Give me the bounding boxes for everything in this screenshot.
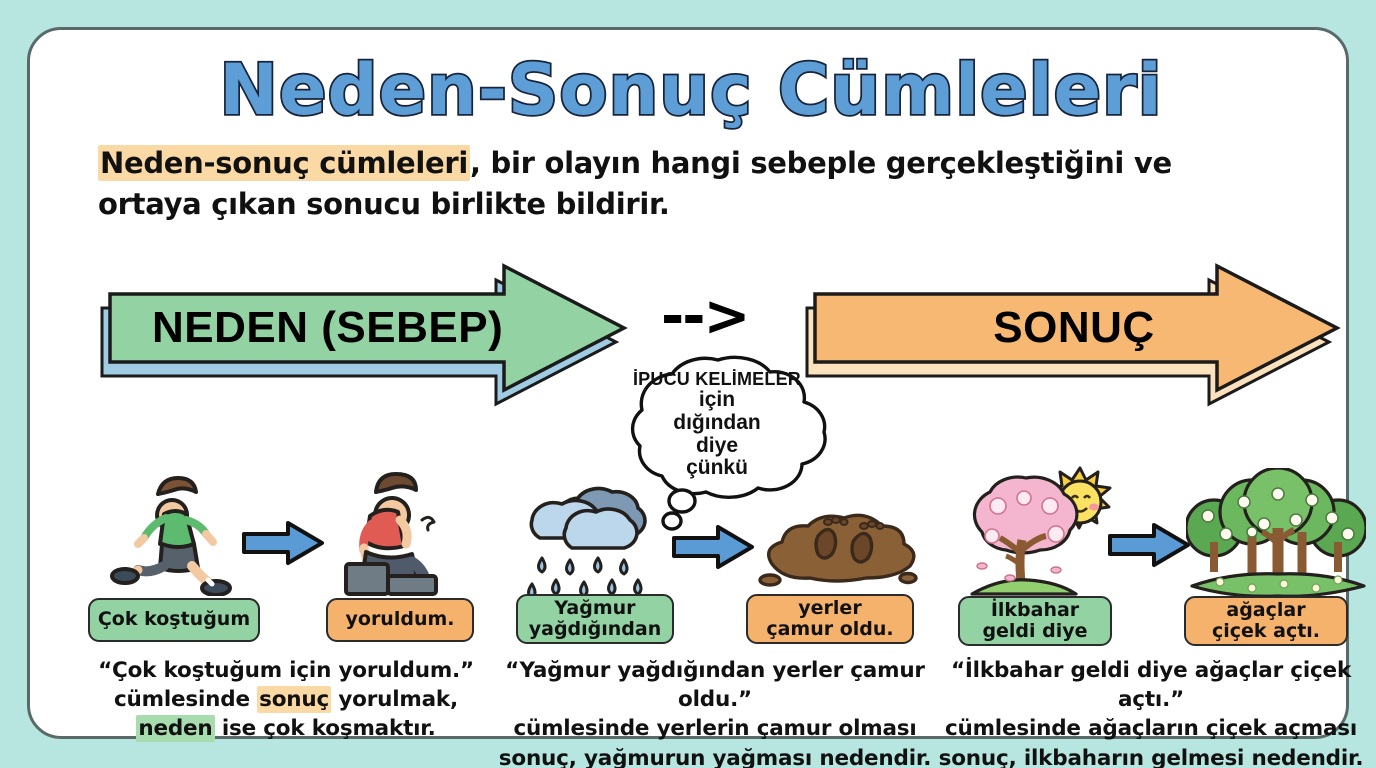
- example-3-effect-label: ağaçlar çiçek açtı.: [1212, 600, 1320, 643]
- example-1-scene: [76, 460, 496, 620]
- intro-line2: ortaya çıkan sonucu birlikte bildirir.: [98, 187, 670, 221]
- example-3-line2: cümlesinde ağaçların çiçek açması: [945, 716, 1357, 741]
- infographic-page: Neden-Sonuç Cümleleri Neden-sonuç cümlel…: [0, 0, 1376, 768]
- tired-boy-icon: [326, 468, 466, 598]
- example-group-1: Çok koştuğum yoruldum. “Çok koştuğum içi…: [76, 460, 496, 768]
- rain-cloud-icon: [512, 476, 662, 606]
- example-3-quote: “İlkbahar geldi diye ağaçlar çiçek açtı.…: [951, 658, 1351, 712]
- example-1-line2-pre: cümlesinde: [114, 687, 257, 712]
- example-1-explanation: “Çok koştuğum için yoruldum.” cümlesinde…: [76, 656, 496, 744]
- example-2-explanation: “Yağmur yağdığından yerler çamur oldu.” …: [498, 656, 932, 768]
- example-2-line3: sonuç, yağmurun yağması nedendir.: [499, 746, 931, 768]
- blue-arrow-icon: [240, 520, 326, 566]
- example-2-quote: “Yağmur yağdığından yerler çamur oldu.”: [505, 658, 925, 712]
- running-boy-icon: [98, 466, 248, 596]
- example-3-cause-label: İlkbahar geldi diye: [982, 600, 1087, 643]
- example-group-3: İlkbahar geldi diye ağaçlar çiçek açtı. …: [934, 460, 1368, 768]
- blue-arrow-icon: [1106, 522, 1192, 568]
- example-2-cause-pill: Yağmur yağdığından: [516, 594, 674, 644]
- example-1-sonuc-highlight: sonuç: [257, 686, 331, 713]
- example-3-line3: sonuç, ilkbaharın gelmesi nedendir.: [939, 746, 1364, 768]
- example-3-effect-pill: ağaçlar çiçek açtı.: [1184, 596, 1348, 646]
- intro-paragraph: Neden-sonuç cümleleri, bir olayın hangi …: [98, 143, 1288, 225]
- example-2-effect-label: yerler çamur oldu.: [766, 598, 893, 641]
- example-1-cause-pill: Çok koştuğum: [88, 598, 260, 642]
- blue-arrow-icon: [670, 524, 756, 570]
- dashed-arrow-connector: -->: [661, 284, 748, 349]
- example-3-cause-pill: İlkbahar geldi diye: [958, 596, 1112, 646]
- intro-highlight: Neden-sonuç cümleleri: [98, 145, 470, 181]
- example-1-quote: “Çok koştuğum için yoruldum.”: [98, 658, 474, 683]
- example-1-line2-post: yorulmak,: [331, 687, 458, 712]
- blossom-tree-sun-icon: [952, 462, 1112, 612]
- page-title: Neden-Sonuç Cümleleri: [30, 54, 1352, 128]
- example-1-effect-pill: yoruldum.: [326, 598, 474, 642]
- mud-puddle-icon: [756, 504, 924, 604]
- example-2-cause-label: Yağmur yağdığından: [529, 598, 662, 641]
- example-group-2: Yağmur yağdığından yerler çamur oldu. “Y…: [498, 460, 932, 768]
- effect-banner: SONUÇ: [805, 262, 1343, 394]
- example-3-explanation: “İlkbahar geldi diye ağaçlar çiçek açtı.…: [934, 656, 1368, 768]
- cause-banner: NEDEN (SEBEP): [100, 262, 630, 394]
- example-1-line3-post: ise çok koşmaktır.: [215, 716, 436, 741]
- example-1-neden-highlight: neden: [136, 715, 214, 742]
- example-2-effect-pill: yerler çamur oldu.: [746, 594, 914, 644]
- content-card: Neden-Sonuç Cümleleri Neden-sonuç cümlel…: [27, 27, 1349, 739]
- intro-rest-line1: , bir olayın hangi sebeple gerçekleştiği…: [470, 146, 1172, 180]
- green-trees-icon: [1186, 468, 1366, 610]
- example-2-line2: cümlesinde yerlerin çamur olması: [513, 716, 916, 741]
